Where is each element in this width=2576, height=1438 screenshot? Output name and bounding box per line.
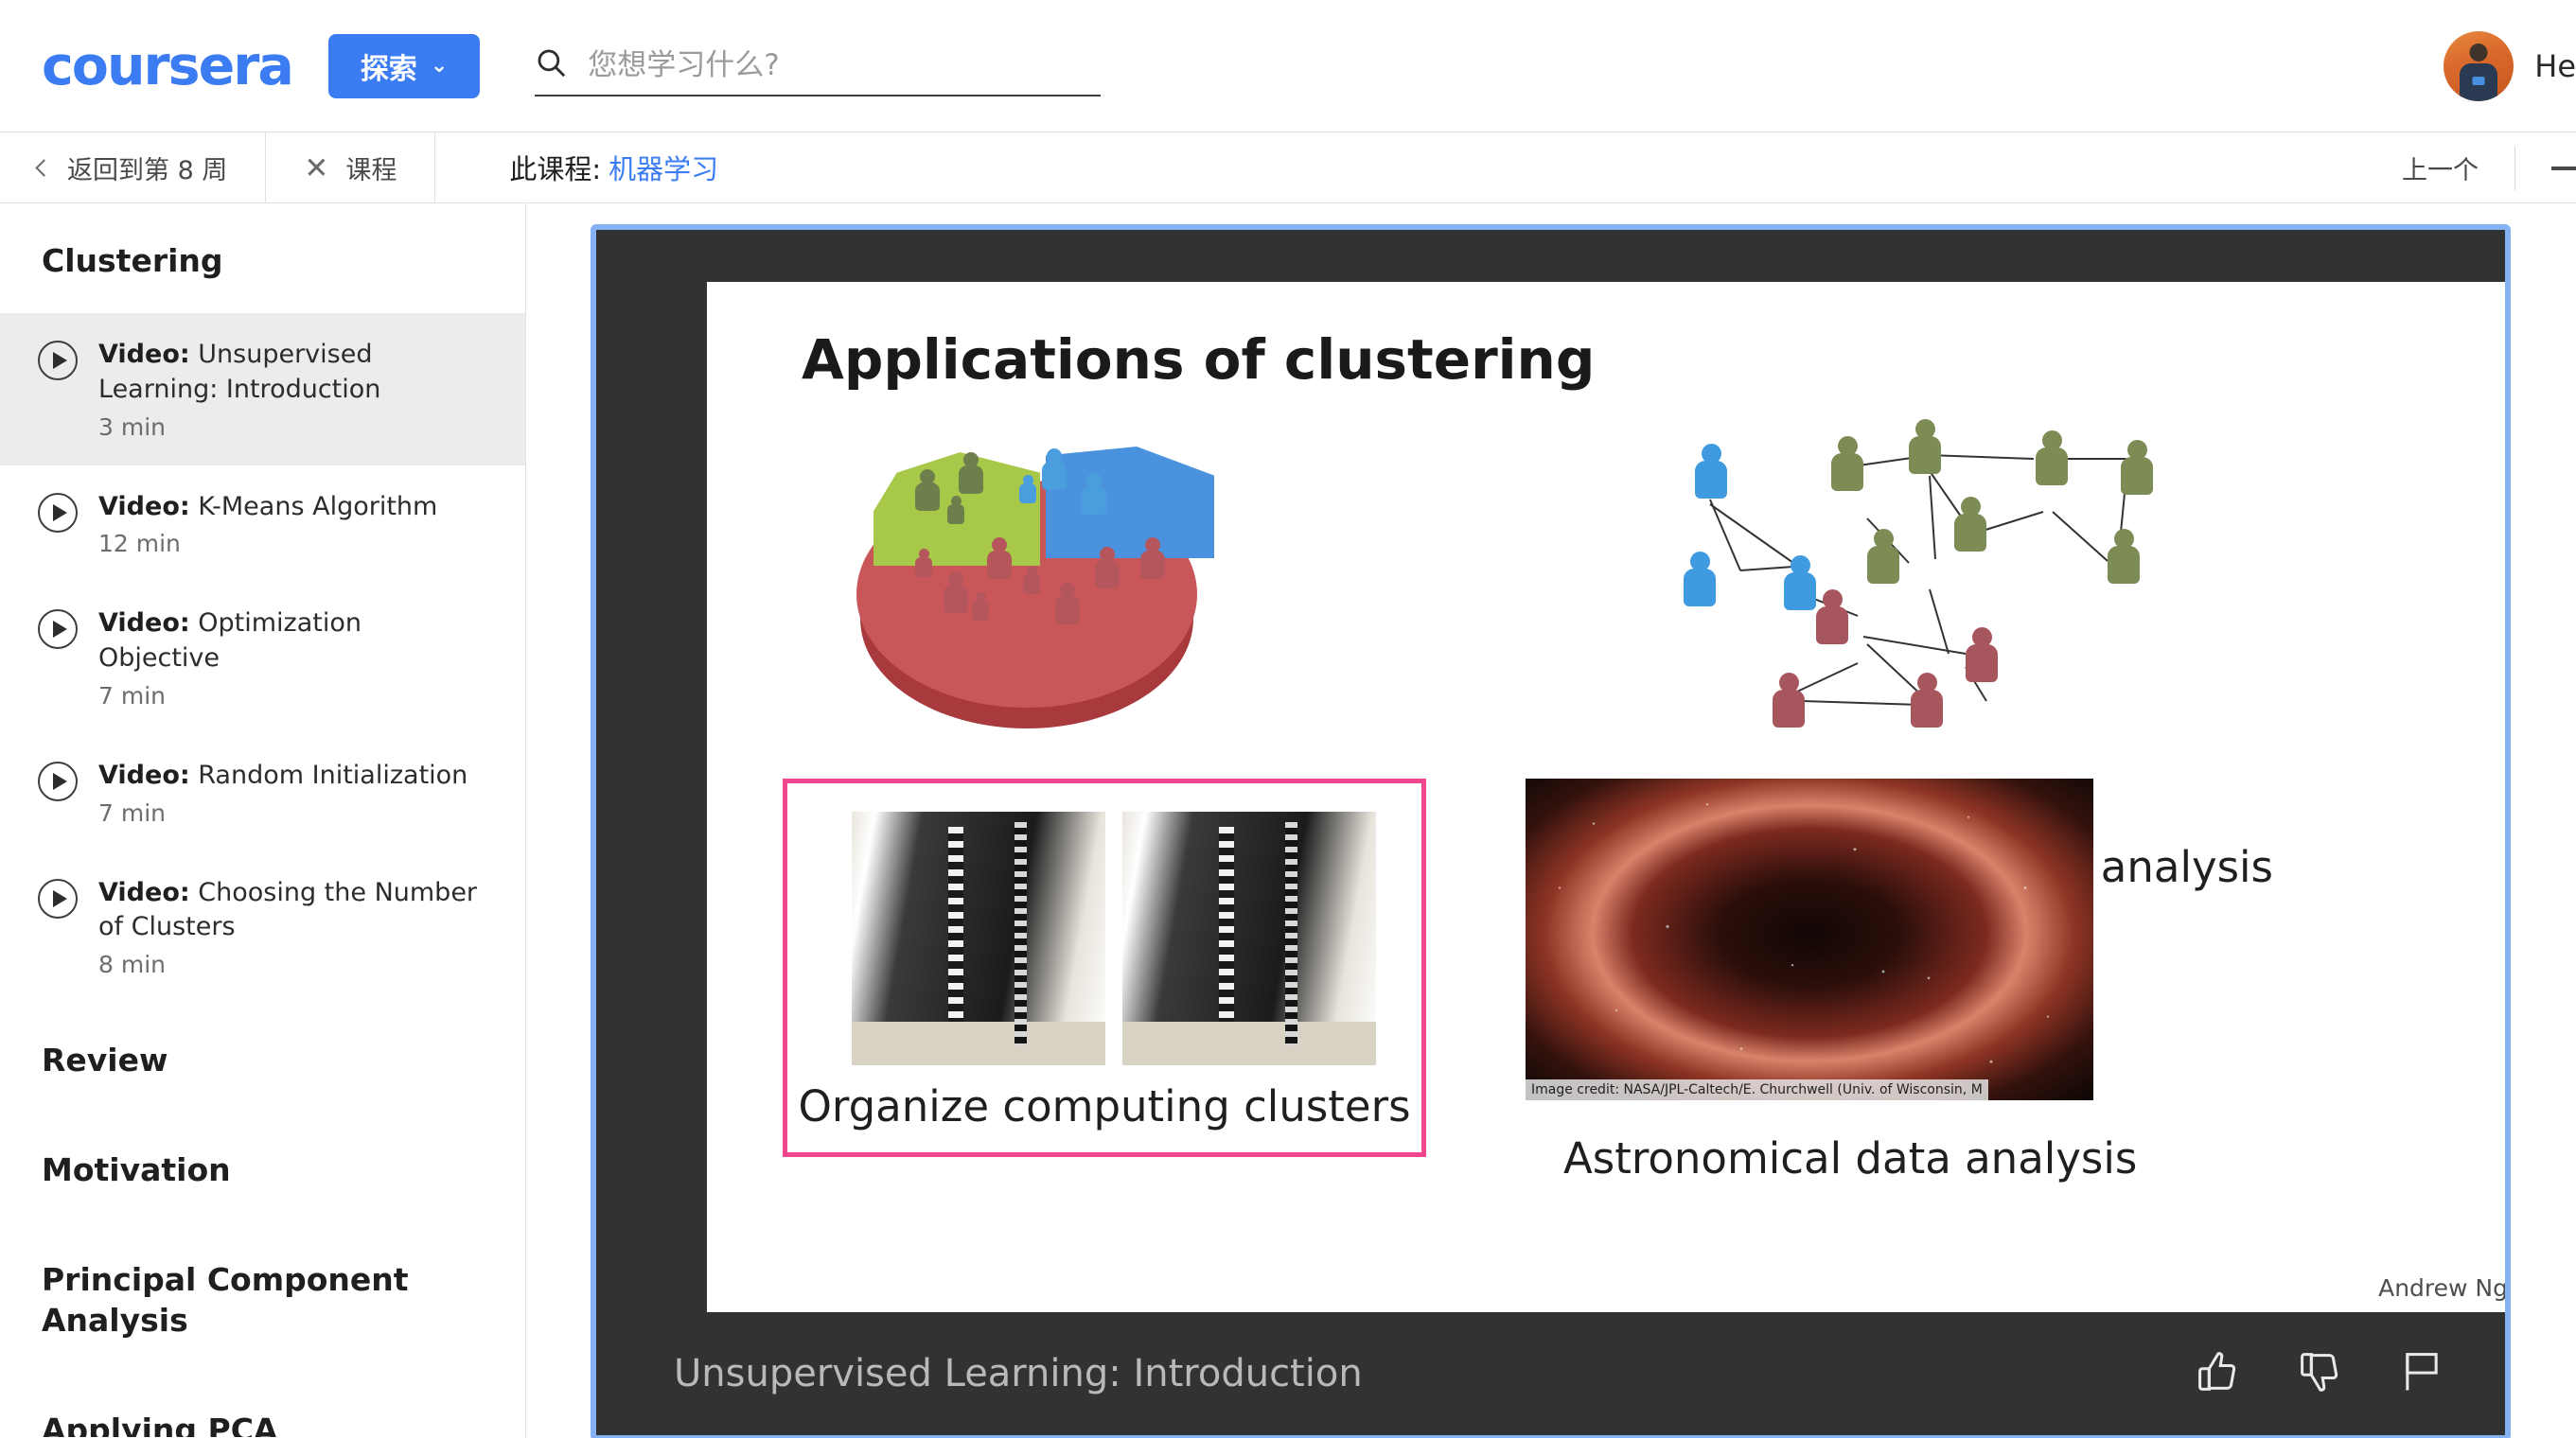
- explore-label: 探索: [361, 45, 417, 87]
- course-subnav: 返回到第 8 周 ✕ 课程 此课程: 机器学习 上一个: [0, 132, 2576, 203]
- page-body: Clustering Video: Unsupervised Learning:…: [0, 203, 2576, 1437]
- next-icon: [2551, 167, 2576, 170]
- play-icon: [38, 341, 78, 380]
- lesson-title: K-Means Algorithm: [198, 492, 437, 521]
- close-icon: ✕: [304, 153, 328, 183]
- player-control-bar: Unsupervised Learning: Introduction: [596, 1312, 2505, 1435]
- organize-clusters-caption: Organize computing clusters: [787, 1081, 1421, 1131]
- coursera-logo[interactable]: coursera: [42, 35, 292, 97]
- search-input[interactable]: [588, 48, 1101, 82]
- lesson-kind: Video:: [98, 878, 190, 907]
- image-credit: Image credit: NASA/JPL-Caltech/E. Church…: [1526, 1079, 1988, 1100]
- chevron-left-icon: [35, 159, 52, 176]
- play-icon: [38, 609, 78, 649]
- video-player-area: Applications of clustering: [526, 203, 2576, 1437]
- lesson-title: Random Initialization: [198, 761, 468, 790]
- lesson-duration: 7 min: [98, 799, 468, 827]
- user-name: He: [2534, 48, 2576, 84]
- server-rack-photo-left: [852, 812, 1105, 1065]
- video-title: Unsupervised Learning: Introduction: [674, 1352, 1363, 1395]
- avatar[interactable]: [2444, 31, 2514, 101]
- lesson-duration: 8 min: [98, 951, 487, 978]
- search-bar[interactable]: [535, 36, 1101, 96]
- stars-layer: [1526, 779, 2093, 1100]
- next-button[interactable]: [2515, 132, 2576, 203]
- thumbs-up-icon[interactable]: [2193, 1347, 2242, 1401]
- attribution: Andrew Ng: [2378, 1274, 2508, 1302]
- lesson-kind: Video:: [98, 340, 190, 369]
- sidebar-section-pca[interactable]: Principal Component Analysis: [0, 1222, 525, 1372]
- social-network-graph: [1682, 400, 2268, 750]
- player-actions: [2193, 1347, 2446, 1401]
- list-item[interactable]: Video: Random Initialization 7 min: [0, 734, 525, 851]
- lesson-duration: 7 min: [98, 682, 487, 710]
- list-item[interactable]: Video: Choosing the Number of Clusters 8…: [0, 851, 525, 1003]
- list-item[interactable]: Video: K-Means Algorithm 12 min: [0, 465, 525, 583]
- list-item[interactable]: Video: Optimization Objective 7 min: [0, 582, 525, 733]
- chevron-down-icon: ⌄: [431, 54, 448, 78]
- close-course-button[interactable]: ✕ 课程: [266, 132, 435, 202]
- user-menu[interactable]: He: [2444, 0, 2576, 132]
- flag-icon[interactable]: [2397, 1347, 2446, 1401]
- top-header: coursera 探索 ⌄ He: [0, 0, 2576, 132]
- play-icon: [38, 762, 78, 801]
- lesson-duration: 12 min: [98, 530, 437, 557]
- course-name-link[interactable]: 机器学习: [609, 148, 718, 187]
- astronomical-caption: Astronomical data analysis: [1563, 1133, 2137, 1184]
- lesson-kind: Video:: [98, 608, 190, 638]
- search-icon: [535, 46, 567, 83]
- course-prefix-label: 此课程:: [509, 148, 601, 187]
- previous-button[interactable]: 上一个: [2366, 132, 2514, 203]
- previous-label: 上一个: [2402, 149, 2479, 186]
- sidebar-section-clustering: Clustering: [0, 203, 525, 313]
- video-player[interactable]: Applications of clustering: [591, 224, 2511, 1438]
- close-course-label: 课程: [345, 149, 397, 186]
- back-to-week-button[interactable]: 返回到第 8 周: [0, 132, 266, 202]
- list-item[interactable]: Video: Unsupervised Learning: Introducti…: [0, 313, 525, 465]
- lesson-sidebar[interactable]: Clustering Video: Unsupervised Learning:…: [0, 203, 526, 1437]
- play-icon: [38, 493, 78, 533]
- thumbs-down-icon[interactable]: [2295, 1347, 2344, 1401]
- organize-clusters-highlight-box: Organize computing clusters: [783, 779, 1426, 1157]
- nebula-image: Image credit: NASA/JPL-Caltech/E. Church…: [1526, 779, 2093, 1100]
- sidebar-section-applying-pca[interactable]: Applying PCA: [0, 1373, 525, 1437]
- breadcrumb: 此课程: 机器学习: [435, 132, 756, 202]
- slide-title: Applications of clustering: [802, 327, 1595, 392]
- network-edges: [1682, 400, 2268, 750]
- sidebar-section-review[interactable]: Review: [0, 1003, 525, 1113]
- server-rack-photo-right: [1122, 812, 1376, 1065]
- lesson-kind: Video:: [98, 492, 190, 521]
- slide-content: Applications of clustering: [707, 282, 2511, 1313]
- lesson-duration: 3 min: [98, 413, 487, 441]
- play-icon: [38, 879, 78, 919]
- lesson-kind: Video:: [98, 761, 190, 790]
- explore-button[interactable]: 探索 ⌄: [328, 34, 480, 98]
- sidebar-section-motivation[interactable]: Motivation: [0, 1113, 525, 1222]
- subnav-right-group: 上一个: [2366, 132, 2576, 203]
- market-segmentation-pie: [856, 424, 1235, 745]
- server-rack-photos: [852, 812, 1376, 1065]
- back-to-week-label: 返回到第 8 周: [67, 149, 227, 186]
